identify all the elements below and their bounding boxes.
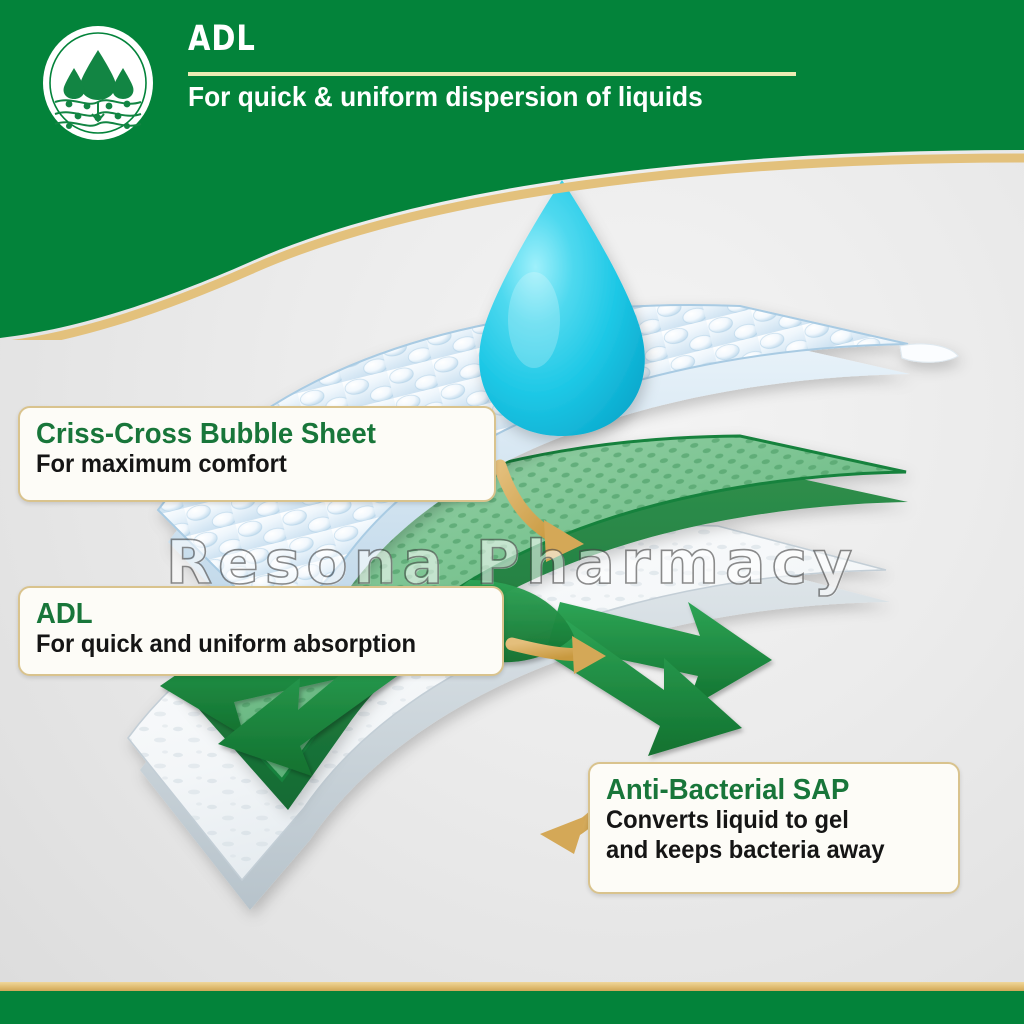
callout-title: Anti-Bacterial SAP <box>606 774 925 806</box>
liquid-dispersion-icon <box>39 24 157 142</box>
header-subtitle: For quick & uniform dispersion of liquid… <box>188 82 703 113</box>
header-banner: ADL For quick & uniform dispersion of li… <box>0 0 1024 340</box>
header-divider <box>188 72 796 76</box>
callout-criss-cross-bubble-sheet: Criss-Cross Bubble Sheet For maximum com… <box>18 406 496 502</box>
callout-body: For quick and uniform absorption <box>36 630 464 660</box>
infographic-canvas: Resona Pharmacy Criss-Cross Bubble Sheet… <box>0 0 1024 1024</box>
footer-strip <box>0 991 1024 1024</box>
callout-body: For maximum comfort <box>36 450 456 480</box>
callout-title: ADL <box>36 598 464 630</box>
callout-body-line-2: and keeps bacteria away <box>606 836 925 866</box>
footer-gold-accent <box>0 982 1024 991</box>
callout-anti-bacterial-sap: Anti-Bacterial SAP Converts liquid to ge… <box>588 762 960 894</box>
header-title: ADL <box>188 22 256 57</box>
callout-adl: ADL For quick and uniform absorption <box>18 586 504 676</box>
callout-title: Criss-Cross Bubble Sheet <box>36 418 456 450</box>
callout-body-line-1: Converts liquid to gel <box>606 806 925 836</box>
